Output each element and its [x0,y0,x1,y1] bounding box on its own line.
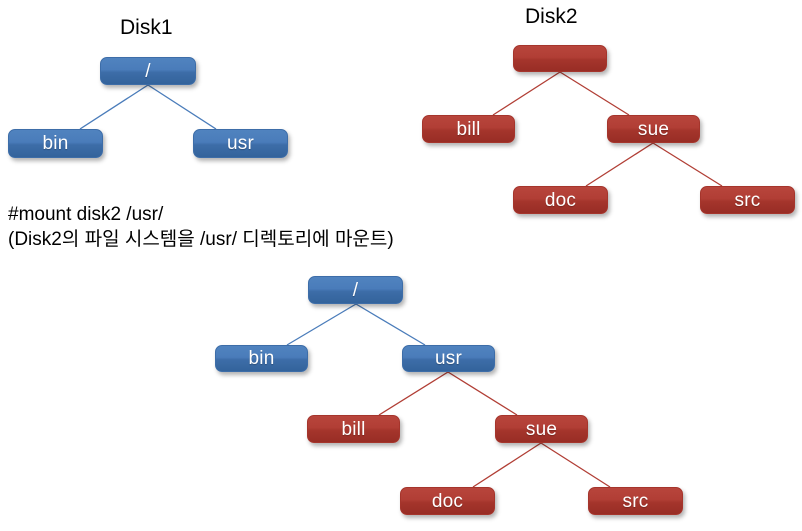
disk2-node-doc[interactable]: doc [513,186,608,214]
edge-m-usr-bill [379,372,448,415]
merged-node-doc[interactable]: doc [400,487,495,515]
edge-m-root-usr [356,304,425,345]
merged-node-bill[interactable]: bill [307,415,400,443]
edge-root-bin [80,85,148,129]
disk1-node-usr[interactable]: usr [193,129,288,158]
disk2-node-root[interactable] [513,45,607,72]
merged-blue-edge-group [287,304,425,345]
edge-sue-doc [586,143,653,186]
disk1-title: Disk1 [120,16,173,40]
merged-node-sue[interactable]: sue [495,415,588,443]
disk2-node-src[interactable]: src [700,186,795,214]
merged-node-src[interactable]: src [588,487,683,515]
disk1-node-root[interactable]: / [100,57,196,85]
edge-d2root-sue [560,72,629,115]
edge-root-usr [148,85,216,129]
edge-sue-src [653,143,722,186]
disk2-node-bill[interactable]: bill [422,115,515,143]
disk2-node-sue[interactable]: sue [607,115,700,143]
disk1-node-bin[interactable]: bin [8,129,103,158]
mount-command-line: #mount disk2 /usr/ [8,202,163,227]
edge-m-root-bin [287,304,356,345]
merged-node-bin[interactable]: bin [215,345,308,372]
edge-m-sue-doc [473,443,541,487]
edge-m-sue-src [541,443,610,487]
merged-node-root[interactable]: / [308,276,403,304]
edge-d2root-bill [493,72,560,115]
edge-m-usr-sue [448,372,517,415]
disk2-title: Disk2 [525,5,578,29]
slide-canvas: Disk1 / bin usr Disk2 bill sue doc src #… [0,0,802,531]
merged-node-usr[interactable]: usr [402,345,495,372]
disk1-edge-group [80,85,216,129]
mount-description-line: (Disk2의 파일 시스템을 /usr/ 디렉토리에 마운트) [8,227,394,252]
